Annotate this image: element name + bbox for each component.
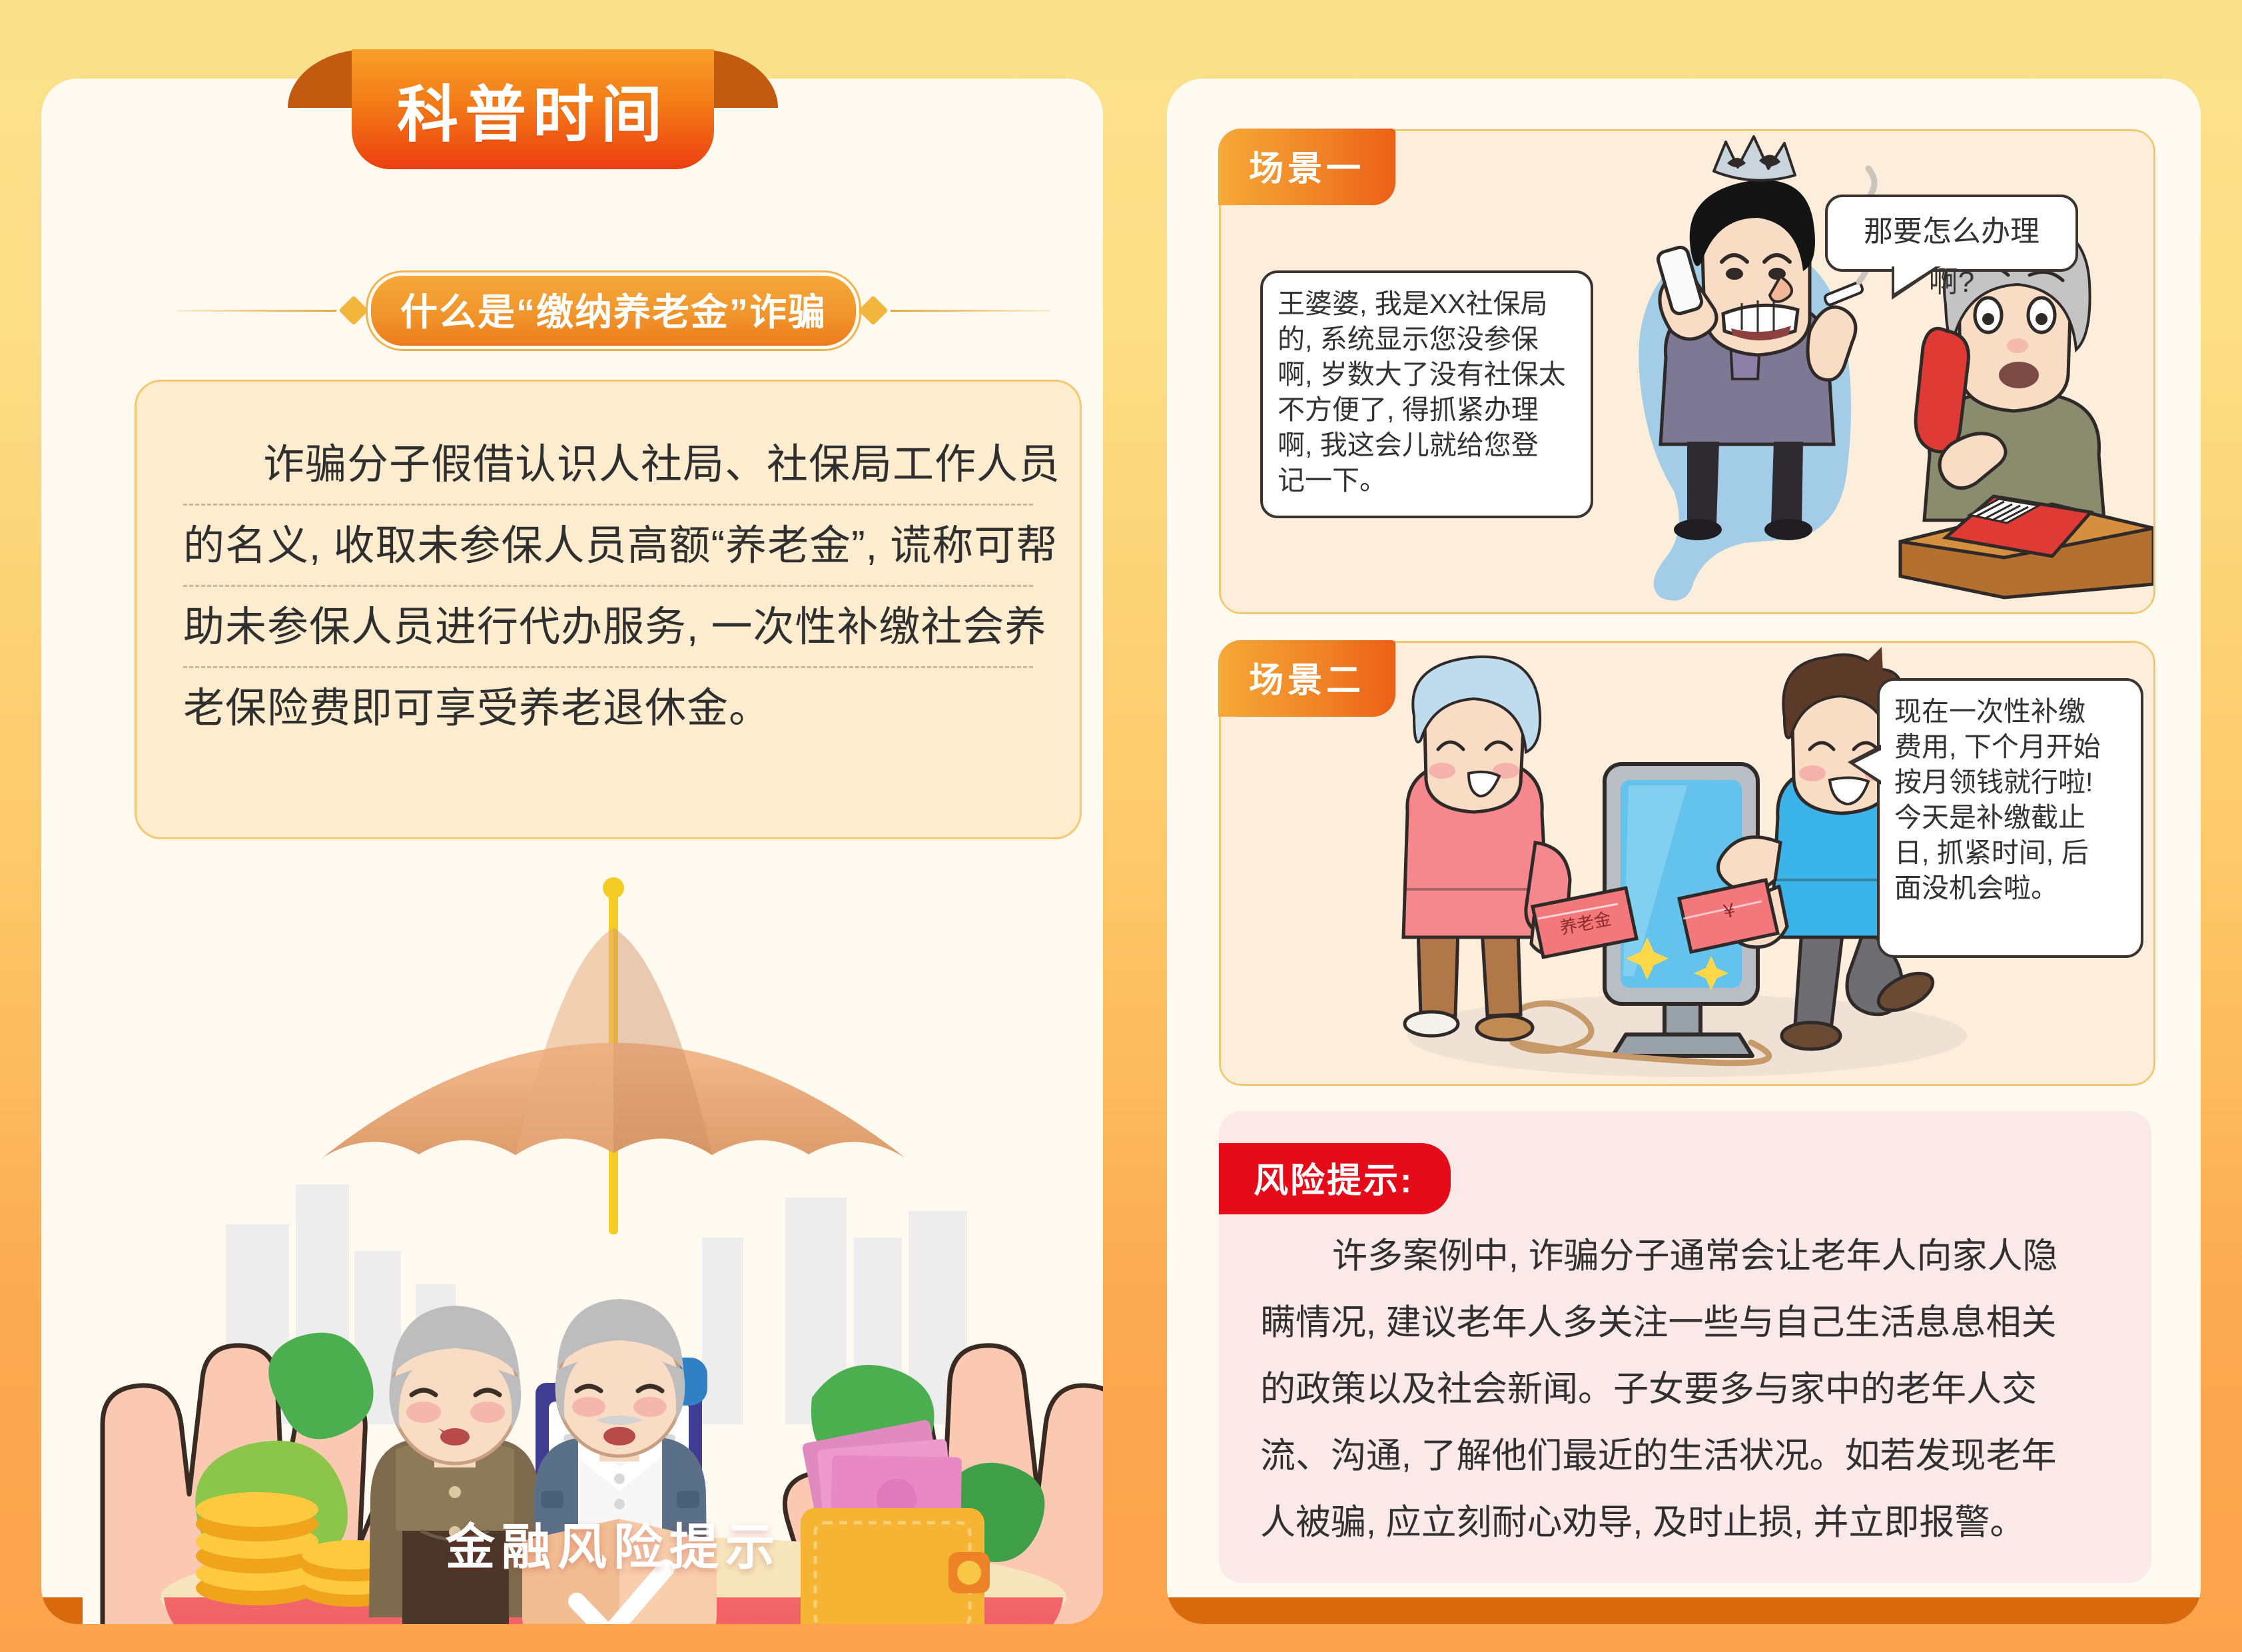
- left-panel-card: 金融风险提示 诈骗分子假借认识人社局、社保局工作人员 的名义, 收取未参保人员高…: [41, 79, 1103, 1624]
- bubble-tail-fill-victim: [1894, 266, 1936, 293]
- speech-bubble-pitch: 现在一次性补缴 费用, 下个月开始 按月领钱就行啦! 今天是补缴截止 日, 抓紧…: [1877, 678, 2143, 958]
- card-bottom-strip-right: [1167, 1597, 2201, 1624]
- scene-tab-2: 场景二: [1218, 640, 1395, 717]
- shield-check-icon: [522, 1519, 717, 1624]
- risk-tip-body: 许多案例中, 诈骗分子通常会让老年人向家人隐 瞒情况, 建议老年人多关注一些与自…: [1260, 1223, 2113, 1556]
- definition-line-2: 的名义, 收取未参保人员高额“养老金”, 谎称可帮: [183, 506, 1033, 587]
- risk-line-2: 瞒情况, 建议老年人多关注一些与自己生活息息相关: [1260, 1290, 2113, 1356]
- speech-bubble-scammer-text: 王婆婆, 我是XX社保局 的, 系统显示您没参保 啊, 岁数大了没有社保太 不方…: [1263, 273, 1591, 512]
- subtitle-pill: 什么是“缴纳养老金”诈骗: [371, 276, 856, 346]
- risk-tip-badge-label: 风险提示:: [1254, 1162, 1413, 1200]
- subtitle-rule-left: [177, 310, 336, 312]
- financial-protection-illustration: 金融风险提示: [83, 825, 1103, 1624]
- definition-line-1: 诈骗分子假借认识人社局、社保局工作人员: [183, 424, 1033, 506]
- speech-bubble-scammer: 王婆婆, 我是XX社保局 的, 系统显示您没参保 啊, 岁数大了没有社保太 不方…: [1260, 270, 1593, 518]
- diamond-icon-right: [858, 295, 888, 325]
- risk-line-4: 流、沟通, 了解他们最近的生活状况。如若发现老年: [1260, 1423, 2113, 1489]
- risk-tip-badge: 风险提示:: [1219, 1143, 1451, 1214]
- scene-tab-1: 场景一: [1218, 129, 1395, 205]
- bubble-tail-fill-pitch: [1854, 750, 1881, 781]
- subtitle-rule-right: [891, 310, 1050, 312]
- ribbon-main: 科普时间: [352, 49, 714, 169]
- speech-bubble-pitch-text: 现在一次性补缴 费用, 下个月开始 按月领钱就行啦! 今天是补缴截止 日, 抓紧…: [1880, 681, 2141, 919]
- risk-tip-card: 风险提示: 许多案例中, 诈骗分子通常会让老年人向家人隐 瞒情况, 建议老年人多…: [1219, 1111, 2151, 1583]
- subtitle-row: 什么是“缴纳养老金”诈骗: [83, 278, 1103, 342]
- risk-line-1: 许多案例中, 诈骗分子通常会让老年人向家人隐: [1260, 1223, 2113, 1290]
- speech-bubble-victim: 那要怎么办理啊?: [1825, 195, 2078, 272]
- subtitle-text: 什么是“缴纳养老金”诈骗: [400, 282, 827, 336]
- definition-line-4: 老保险费即可享受养老退休金。: [183, 668, 1033, 749]
- risk-line-5: 人被骗, 应立刻耐心劝导, 及时止损, 并立即报警。: [1260, 1489, 2113, 1556]
- scene-tab-1-label: 场景一: [1249, 150, 1365, 189]
- diamond-icon-left: [338, 295, 368, 325]
- illustration-svg: [83, 825, 1103, 1624]
- definition-box: 诈骗分子假借认识人社局、社保局工作人员 的名义, 收取未参保人员高额“养老金”,…: [135, 380, 1082, 839]
- speech-bubble-victim-text: 那要怎么办理啊?: [1828, 197, 2075, 317]
- risk-line-3: 的政策以及社会新闻。子女要多与家中的老年人交: [1260, 1356, 2113, 1423]
- definition-line-3: 助未参保人员进行代办服务, 一次性补缴社会养: [183, 587, 1033, 668]
- scene-tab-2-label: 场景二: [1249, 661, 1365, 700]
- poster-root: 金融风险提示 诈骗分子假借认识人社局、社保局工作人员 的名义, 收取未参保人员高…: [0, 0, 2242, 1652]
- title-ribbon: 科普时间: [288, 49, 778, 169]
- page-title: 科普时间: [397, 65, 669, 154]
